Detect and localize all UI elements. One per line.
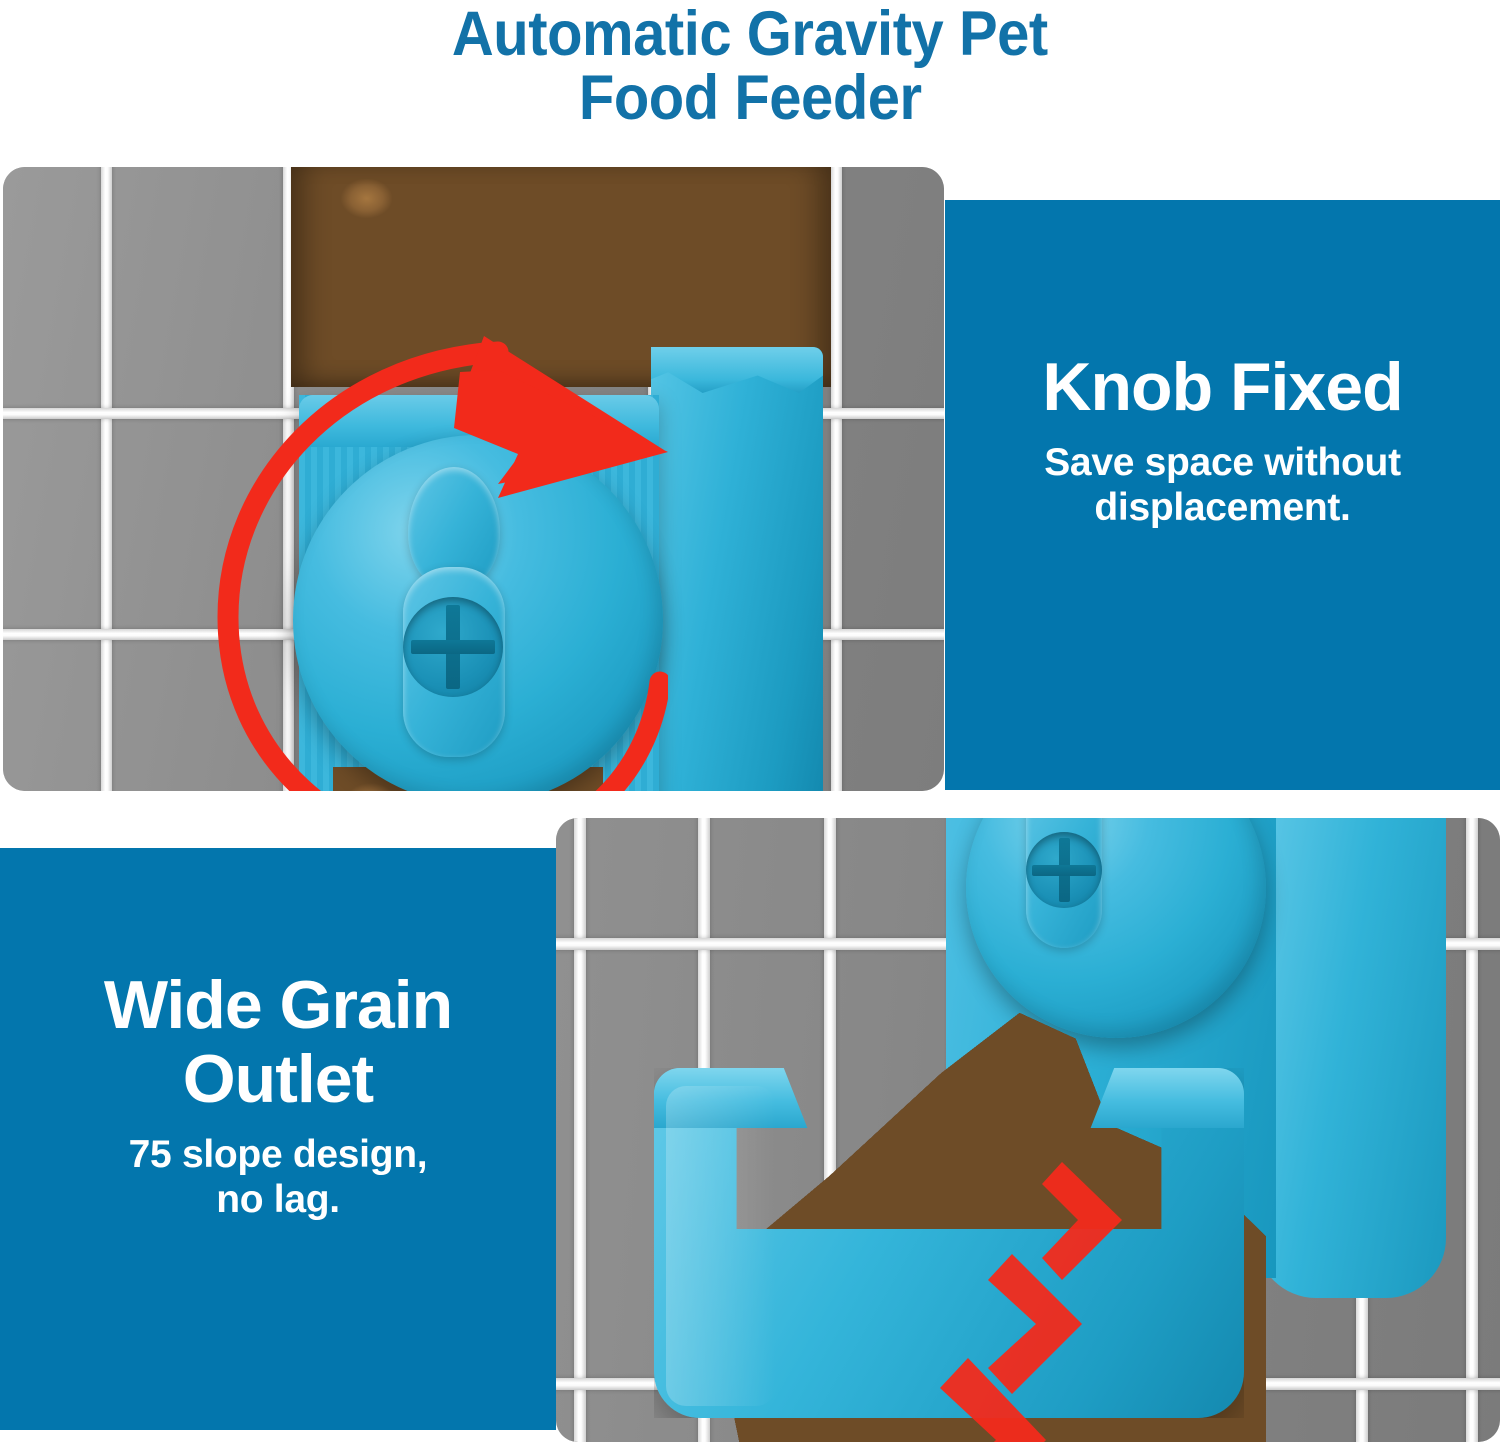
knob-cross-slot-horizontal <box>1032 865 1096 876</box>
feature-photo-wide-grain-outlet <box>556 818 1500 1442</box>
feeder-hopper-tube <box>1256 818 1446 1298</box>
page-title: Automatic Gravity Pet Food Feeder <box>0 0 1500 150</box>
cage-wire-vertical <box>574 818 586 1442</box>
feature-panel-knob-fixed: Knob Fixed Save space without displaceme… <box>945 200 1500 790</box>
page-title-line-2: Food Feeder <box>579 66 922 130</box>
page-title-line-1: Automatic Gravity Pet <box>452 2 1048 66</box>
feature-photo-knob-fixed <box>3 167 944 791</box>
feature-text-block: Knob Fixed Save space without displaceme… <box>945 350 1500 530</box>
feature-subtitle-knob-fixed: Save space without displacement. <box>1044 440 1401 530</box>
bowl-highlight <box>666 1086 776 1406</box>
feature-title-knob-fixed: Knob Fixed <box>1042 350 1402 424</box>
food-flow-arrow-icon <box>886 1158 1186 1442</box>
feature-text-block: Wide Grain Outlet 75 slope design, no la… <box>0 968 556 1222</box>
rotation-arrow-head-icon <box>198 332 668 791</box>
cage-wire-vertical <box>831 167 842 791</box>
feeder-hopper-side <box>651 347 823 791</box>
feature-subtitle-wide-grain-outlet: 75 slope design, no lag. <box>129 1132 428 1222</box>
cage-wire-vertical <box>1466 818 1478 1442</box>
cage-wire-vertical <box>101 167 112 791</box>
feature-title-wide-grain-outlet: Wide Grain Outlet <box>104 968 452 1116</box>
feature-panel-wide-grain-outlet: Wide Grain Outlet 75 slope design, no la… <box>0 848 556 1430</box>
